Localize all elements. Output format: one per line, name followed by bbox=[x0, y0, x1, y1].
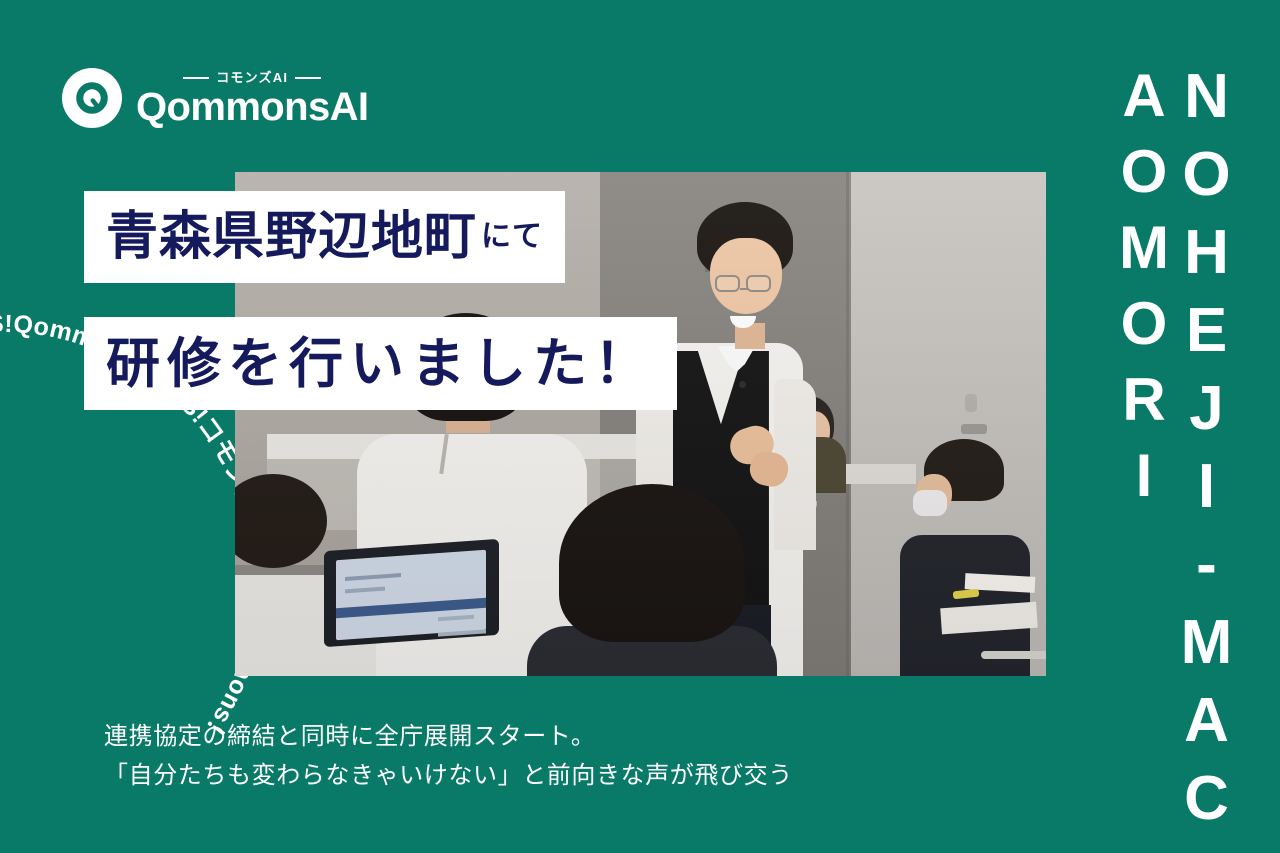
photo-door-knob bbox=[965, 394, 977, 412]
rule-dash-icon bbox=[295, 77, 321, 79]
photo-front-laptop-screen bbox=[336, 550, 486, 640]
qommons-q-mark-icon bbox=[62, 68, 122, 128]
rule-dash-icon bbox=[183, 77, 209, 79]
photo-presenter-glasses-right bbox=[746, 275, 771, 292]
headline-band-action: 研修を行いました！ bbox=[84, 317, 677, 410]
caption-line-1: 連携協定の締結と同時に全庁展開スタート。 bbox=[104, 718, 793, 757]
brand-kana: コモンズAI bbox=[216, 71, 288, 84]
poster-canvas: YES!コモンズ！YES!Qommons！YES!コモンズ！YES!Qommon… bbox=[0, 0, 1280, 853]
brand-logo[interactable]: コモンズAI QommonsAI bbox=[62, 66, 368, 130]
photo-presenter-glasses-left bbox=[715, 275, 740, 292]
photo-door-handle bbox=[961, 424, 987, 434]
photo-wall-seam bbox=[846, 172, 849, 676]
brand-name: QommonsAI bbox=[136, 86, 368, 128]
headline-action-main: 研修を行いました！ bbox=[106, 337, 655, 391]
face-mask-icon bbox=[913, 490, 947, 516]
headline-location-main: 青森県野辺地町 bbox=[106, 211, 477, 263]
headline-band-location: 青森県野辺地町 にて bbox=[84, 191, 565, 283]
headline-location-suffix: にて bbox=[477, 222, 543, 252]
caption-block: 連携協定の締結と同時に全庁展開スタート。 「自分たちも変わらなきゃいけない」と前… bbox=[104, 718, 793, 796]
vertical-location-noheji-machi: NOHEJI-MACHI bbox=[1176, 62, 1236, 762]
brand-wordmark: コモンズAI QommonsAI bbox=[136, 69, 368, 128]
caption-line-2: 「自分たちも変わらなきゃいけない」と前向きな声が飛び交う bbox=[104, 757, 793, 796]
vertical-location-aomori: AOMORI bbox=[1115, 62, 1173, 762]
photo-chair-edge bbox=[981, 651, 1046, 659]
photo-presenter-glasses-bridge bbox=[740, 288, 748, 290]
vertical-location-text: NOHEJI-MACHI AOMORI bbox=[1115, 62, 1236, 762]
photo-attendee-front-hair bbox=[559, 484, 745, 642]
brand-kana-row: コモンズAI bbox=[136, 71, 368, 85]
